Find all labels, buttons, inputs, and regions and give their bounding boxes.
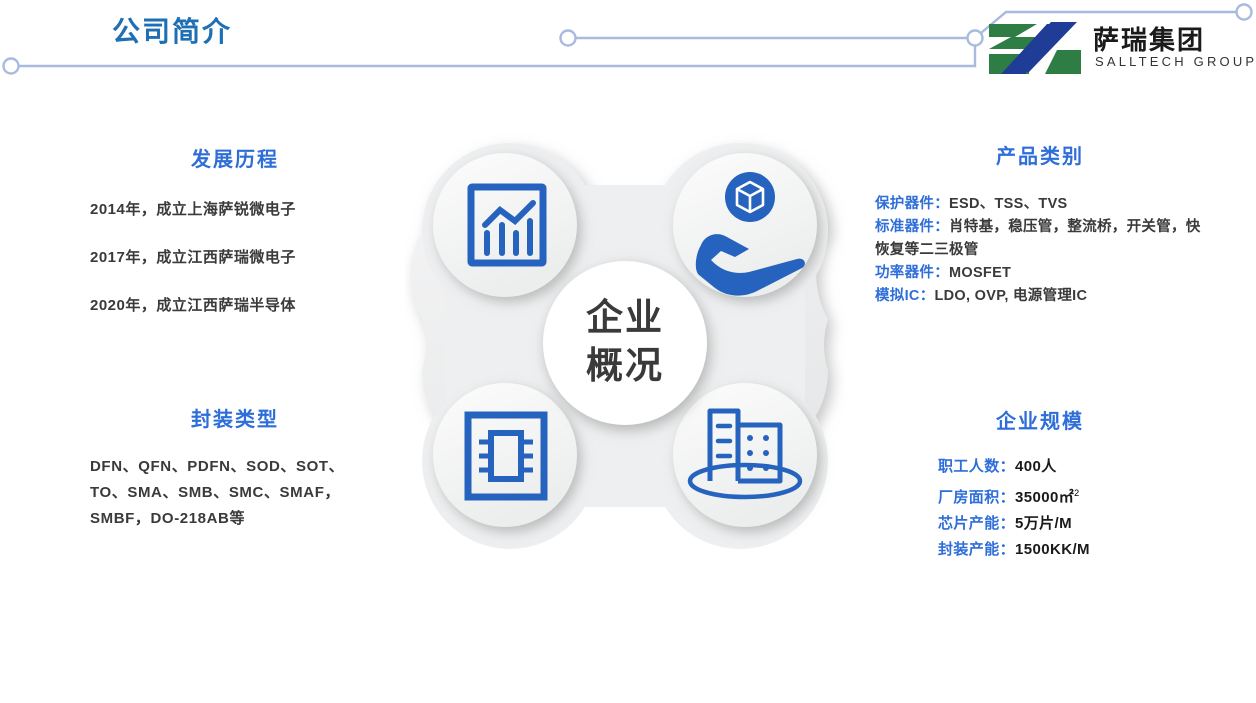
product-row: 模拟IC：LDO, OVP, 电源管理IC	[875, 285, 1205, 308]
scale-value: 400人	[1015, 458, 1057, 475]
center-title-line2: 概况	[586, 345, 664, 386]
scale-row: 厂房面积：35000㎡2	[890, 480, 1190, 511]
package-body-text: DFN、QFN、PDFN、SOD、SOT、TO、SMA、SMB、SMC、SMAF…	[90, 454, 380, 532]
scale-row: 芯片产能：5万片/M	[890, 511, 1190, 537]
scale-label: 职工人数：	[938, 458, 1015, 475]
history-item: 2017年，成立江西萨瑞微电子	[90, 246, 380, 267]
page-title: 公司简介	[112, 10, 232, 50]
section-products-heading: 产品类别	[875, 140, 1205, 169]
scale-label: 封装产能：	[938, 541, 1015, 558]
product-value: MOSFET	[949, 265, 1011, 281]
section-package: 封装类型 DFN、QFN、PDFN、SOD、SOT、TO、SMA、SMB、SMC…	[90, 403, 380, 532]
product-label: 功率器件：	[875, 265, 949, 281]
product-row: 保护器件：ESD、TSS、TVS	[875, 193, 1205, 216]
center-diagram: 企业 概况	[405, 125, 845, 565]
deco-node-middle	[561, 31, 576, 46]
scale-value: 1500KK/M	[1015, 541, 1090, 558]
scale-row: 封装产能：1500KK/M	[890, 537, 1190, 563]
history-item: 2020年，成立江西萨瑞半导体	[90, 294, 380, 315]
section-scale-heading: 企业规模	[890, 405, 1190, 434]
scale-value: 35000㎡	[1015, 489, 1074, 506]
product-label: 模拟IC：	[875, 288, 935, 304]
scale-value: 5万片/M	[1015, 515, 1072, 532]
scale-label: 芯片产能：	[938, 515, 1015, 532]
section-package-heading: 封装类型	[90, 403, 380, 432]
scale-row: 职工人数：400人	[890, 454, 1190, 480]
logo-text-cn: 萨瑞集团	[1093, 20, 1205, 57]
product-label: 标准器件：	[875, 219, 949, 235]
center-title-line1: 企业	[586, 296, 664, 338]
scale-label: 厂房面积：	[938, 489, 1015, 506]
logo-text-en: SALLTECH GROUP	[1095, 54, 1256, 69]
product-value: LDO, OVP, 电源管理IC	[935, 288, 1088, 304]
center-core[interactable]	[543, 261, 707, 425]
product-value: ESD、TSS、TVS	[949, 196, 1068, 212]
product-row: 功率器件：MOSFET	[875, 262, 1205, 285]
section-scale: 企业规模 职工人数：400人 厂房面积：35000㎡2 芯片产能：5万片/M 封…	[890, 405, 1190, 563]
lobe-bottom-right[interactable]	[673, 383, 817, 527]
section-history: 发展历程 2014年，成立上海萨锐微电子 2017年，成立江西萨瑞微电子 202…	[90, 143, 380, 342]
product-row: 标准器件：肖特基，稳压管，整流桥，开关管，快恢复等二三极管	[875, 216, 1205, 262]
section-products: 产品类别 保护器件：ESD、TSS、TVS 标准器件：肖特基，稳压管，整流桥，开…	[875, 140, 1205, 308]
logo-mark-icon	[985, 20, 1085, 78]
company-logo: 萨瑞集团 SALLTECH GROUP	[985, 18, 1243, 80]
product-label: 保护器件：	[875, 196, 949, 212]
lobe-bottom-left[interactable]	[433, 383, 577, 527]
section-history-heading: 发展历程	[90, 143, 380, 172]
deco-node-left	[4, 59, 19, 74]
scale-superscript: 2	[1074, 488, 1079, 498]
history-item: 2014年，成立上海萨锐微电子	[90, 198, 380, 219]
deco-node-junction	[968, 31, 983, 46]
